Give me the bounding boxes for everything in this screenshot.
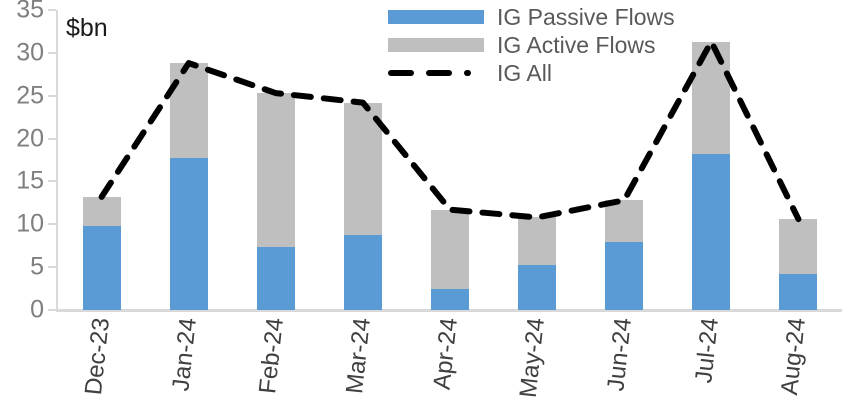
y-axis-tick-mark	[48, 223, 56, 225]
legend-item-label: IG All	[497, 62, 552, 85]
legend-item[interactable]: IG Passive Flows	[388, 4, 675, 30]
legend-item[interactable]: IG All	[388, 60, 675, 86]
y-axis-tick-mark	[48, 266, 56, 268]
y-axis-tick-mark	[48, 309, 56, 311]
x-axis-tick-label: Apr-24	[431, 312, 469, 412]
x-axis-tick-label-text: Feb-24	[256, 317, 288, 395]
y-axis-tick-label: 25	[16, 83, 44, 108]
y-axis-tick-label: 35	[16, 0, 44, 23]
y-axis-labels: 35302520151050	[0, 0, 44, 417]
y-axis-tick-mark	[48, 180, 56, 182]
dashed-line-swatch	[388, 66, 484, 80]
y-axis-tick-mark	[48, 52, 56, 54]
x-axis-tick-label: Aug-24	[779, 312, 817, 412]
x-axis-labels: Dec-23Jan-24Feb-24Mar-24Apr-24May-24Jun-…	[58, 312, 842, 417]
y-axis-tick-label: 30	[16, 40, 44, 65]
y-axis-tick-mark	[48, 138, 56, 140]
x-axis-tick-label-text: Mar-24	[343, 317, 375, 395]
x-axis-tick-label: Dec-23	[83, 312, 121, 412]
legend-item[interactable]: IG Active Flows	[388, 32, 675, 58]
blue-square-swatch	[388, 10, 484, 24]
x-axis-tick-label-text: Apr-24	[431, 317, 462, 391]
x-axis-tick-label: Jan-24	[170, 312, 208, 412]
y-axis-tick-label: 0	[30, 298, 44, 323]
x-axis-tick-label-text: Jan-24	[169, 317, 201, 392]
x-axis-tick-label: Mar-24	[344, 312, 382, 412]
legend-item-label: IG Active Flows	[497, 34, 655, 57]
y-axis-tick-label: 15	[16, 169, 44, 194]
x-axis-tick-label-text: Aug-24	[778, 317, 810, 396]
gray-square-swatch	[388, 38, 484, 52]
y-axis-tick-label: 5	[30, 255, 44, 280]
y-axis-tick-label: 20	[16, 126, 44, 151]
y-axis-tick-mark	[48, 9, 56, 11]
chart-legend: IG Passive FlowsIG Active FlowsIG All	[388, 4, 675, 88]
x-axis-tick-label: May-24	[518, 312, 556, 412]
x-axis-tick-label-text: Jun-24	[605, 317, 637, 392]
y-axis-tick-mark	[48, 95, 56, 97]
x-axis-tick-label: Jul-24	[692, 312, 730, 412]
y-axis-tick-label: 10	[16, 212, 44, 237]
chart-container: 35302520151050 $bn Dec-23Jan-24Feb-24Mar…	[0, 0, 852, 417]
x-axis-tick-label-text: Jul-24	[693, 317, 724, 385]
x-axis-tick-label-text: May-24	[517, 317, 549, 399]
x-axis-tick-label: Feb-24	[257, 312, 295, 412]
legend-item-label: IG Passive Flows	[497, 6, 675, 29]
x-axis-tick-label-text: Dec-23	[82, 317, 114, 396]
x-axis-tick-label: Jun-24	[605, 312, 643, 412]
